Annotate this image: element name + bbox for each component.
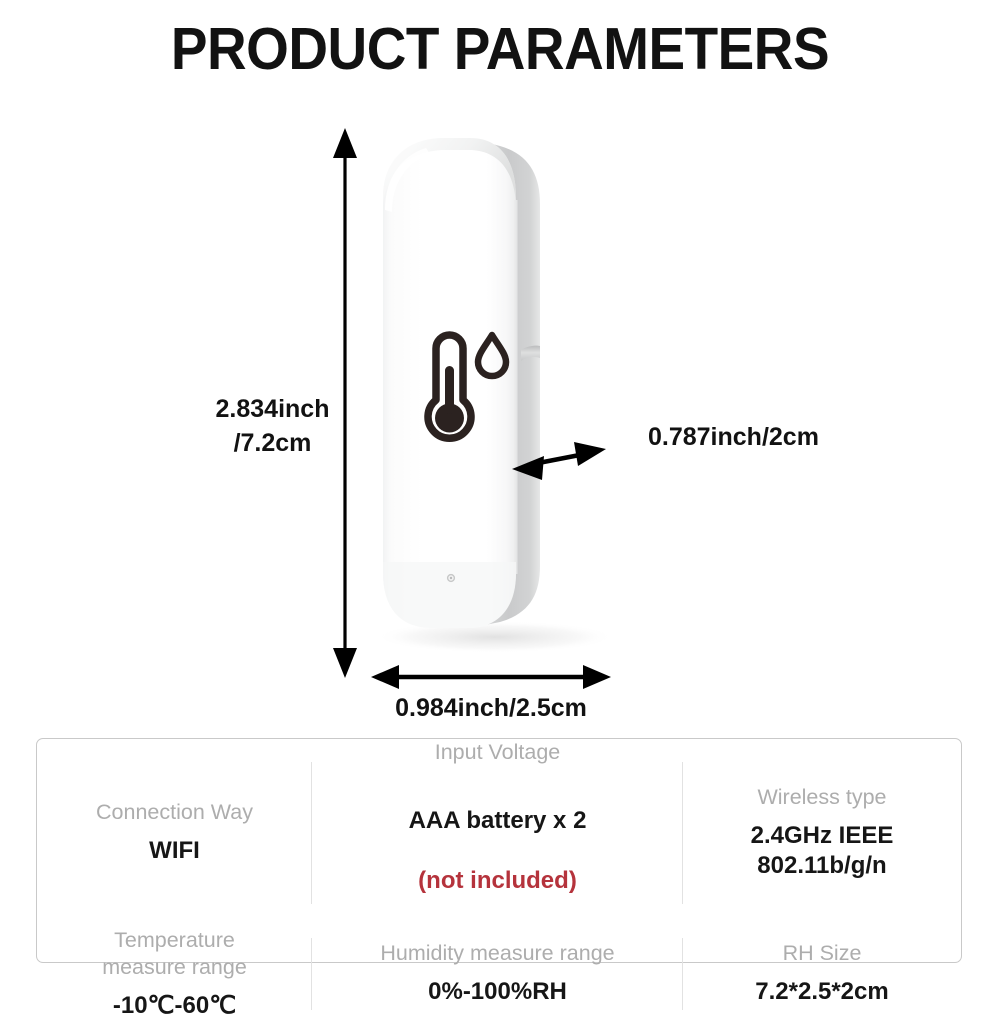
spec-cell-rh-size: RH Size 7.2*2.5*2cm — [683, 927, 961, 1021]
spec-cell-humidity-measure-range: Humidity measure range 0%-100%RH — [312, 927, 683, 1021]
spec-table-row: Connection Way WIFI Input Voltage AAA ba… — [37, 739, 961, 927]
spec-label-rh-size: RH Size — [783, 940, 862, 968]
height-dimension-label: 2.834inch /7.2cm — [205, 393, 340, 461]
spec-table: Connection Way WIFI Input Voltage AAA ba… — [36, 738, 962, 963]
spec-value-temperature-measure-range: -10℃-60℃ — [113, 991, 236, 1021]
spec-value-input-voltage-note: (not included) — [409, 866, 587, 896]
spec-label-input-voltage: Input Voltage — [435, 739, 561, 767]
page-title: PRODUCT PARAMETERS — [35, 20, 965, 79]
height-dimension-line2: /7.2cm — [205, 427, 340, 461]
spec-cell-connection-way: Connection Way WIFI — [37, 739, 312, 927]
device-ground-shadow — [375, 621, 615, 653]
spec-label-humidity-measure-range: Humidity measure range — [380, 940, 614, 968]
product-illustration — [0, 100, 1000, 720]
spec-cell-wireless-type: Wireless type 2.4GHz IEEE 802.11b/g/n — [683, 739, 961, 927]
height-dimension-line1: 2.834inch — [205, 393, 340, 427]
spec-cell-input-voltage: Input Voltage AAA battery x 2 (not inclu… — [312, 739, 683, 927]
spec-value-input-voltage-main: AAA battery x 2 — [409, 806, 587, 836]
device-bottom-shading — [383, 562, 516, 628]
width-dimension-arrow — [371, 665, 611, 689]
spec-table-row: Temperature measure range -10℃-60℃ Humid… — [37, 927, 961, 1021]
spec-value-wireless-type: 2.4GHz IEEE 802.11b/g/n — [751, 821, 894, 881]
depth-dimension-label: 0.787inch/2cm — [648, 421, 819, 455]
spec-label-temperature-measure-range: Temperature measure range — [102, 927, 247, 982]
led-indicator-dot — [448, 575, 455, 582]
spec-cell-temperature-measure-range: Temperature measure range -10℃-60℃ — [37, 927, 312, 1021]
spec-value-rh-size: 7.2*2.5*2cm — [755, 977, 888, 1007]
spec-value-humidity-measure-range: 0%-100%RH — [428, 977, 567, 1007]
spec-label-wireless-type: Wireless type — [757, 784, 886, 812]
width-dimension-label: 0.984inch/2.5cm — [375, 692, 607, 726]
spec-value-connection-way: WIFI — [149, 836, 200, 866]
spec-label-connection-way: Connection Way — [96, 799, 253, 827]
spec-value-input-voltage: AAA battery x 2 (not included) — [409, 776, 587, 927]
